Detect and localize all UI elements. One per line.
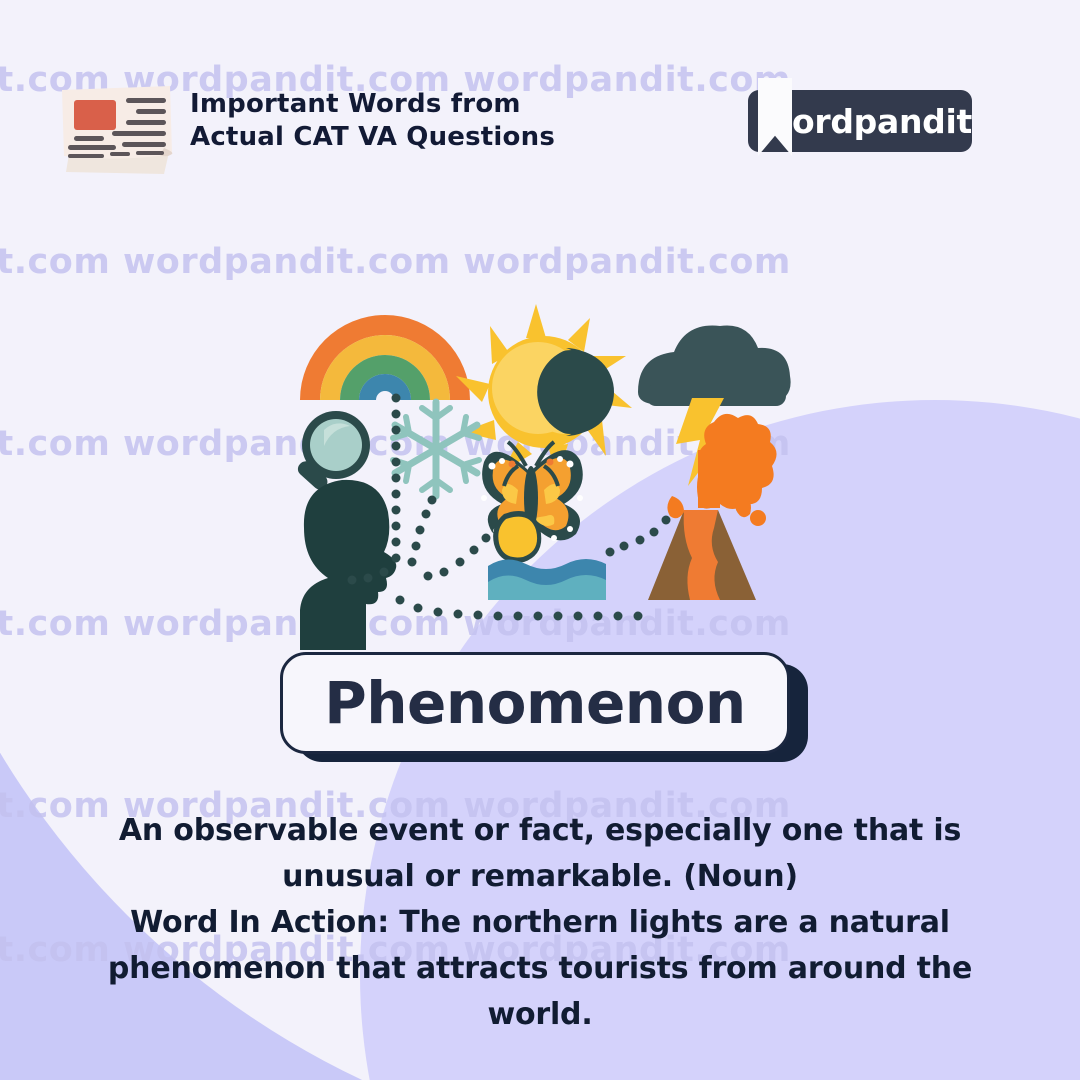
snowflake-icon [393, 402, 479, 496]
definition-line: Word In Action: The northern lights are … [60, 900, 1020, 946]
water-waves-icon [488, 559, 606, 600]
head-silhouette-icon [300, 480, 396, 650]
logo-text: ordpandit [792, 90, 972, 152]
leaf-icon [493, 511, 541, 563]
volcano-icon [648, 414, 777, 600]
definition-line: An observable event or fact, especially … [60, 808, 1020, 854]
vocabulary-word: Phenomenon [324, 669, 745, 737]
magnifying-glass-icon [295, 411, 370, 492]
rainbow-icon [300, 315, 470, 400]
definition-line: world. [60, 992, 1020, 1038]
page-title: Important Words from Actual CAT VA Quest… [190, 88, 555, 154]
header: Important Words from Actual CAT VA Quest… [0, 0, 1080, 190]
bookmark-ribbon-icon [758, 78, 792, 156]
word-card: Phenomenon [280, 652, 810, 762]
page-title-line-2: Actual CAT VA Questions [190, 121, 555, 154]
poster-canvas: it.com wordpandit.com wordpandit.com it.… [0, 0, 1080, 1080]
definition-line: phenomenon that attracts tourists from a… [60, 946, 1020, 992]
definition-block: An observable event or fact, especially … [60, 808, 1020, 1038]
newspaper-icon [52, 76, 182, 176]
phenomenon-illustration [280, 300, 800, 650]
wordpandit-logo[interactable]: ordpandit [748, 90, 972, 152]
page-title-line-1: Important Words from [190, 88, 555, 121]
word-card-box: Phenomenon [280, 652, 790, 754]
definition-line: unusual or remarkable. (Noun) [60, 854, 1020, 900]
